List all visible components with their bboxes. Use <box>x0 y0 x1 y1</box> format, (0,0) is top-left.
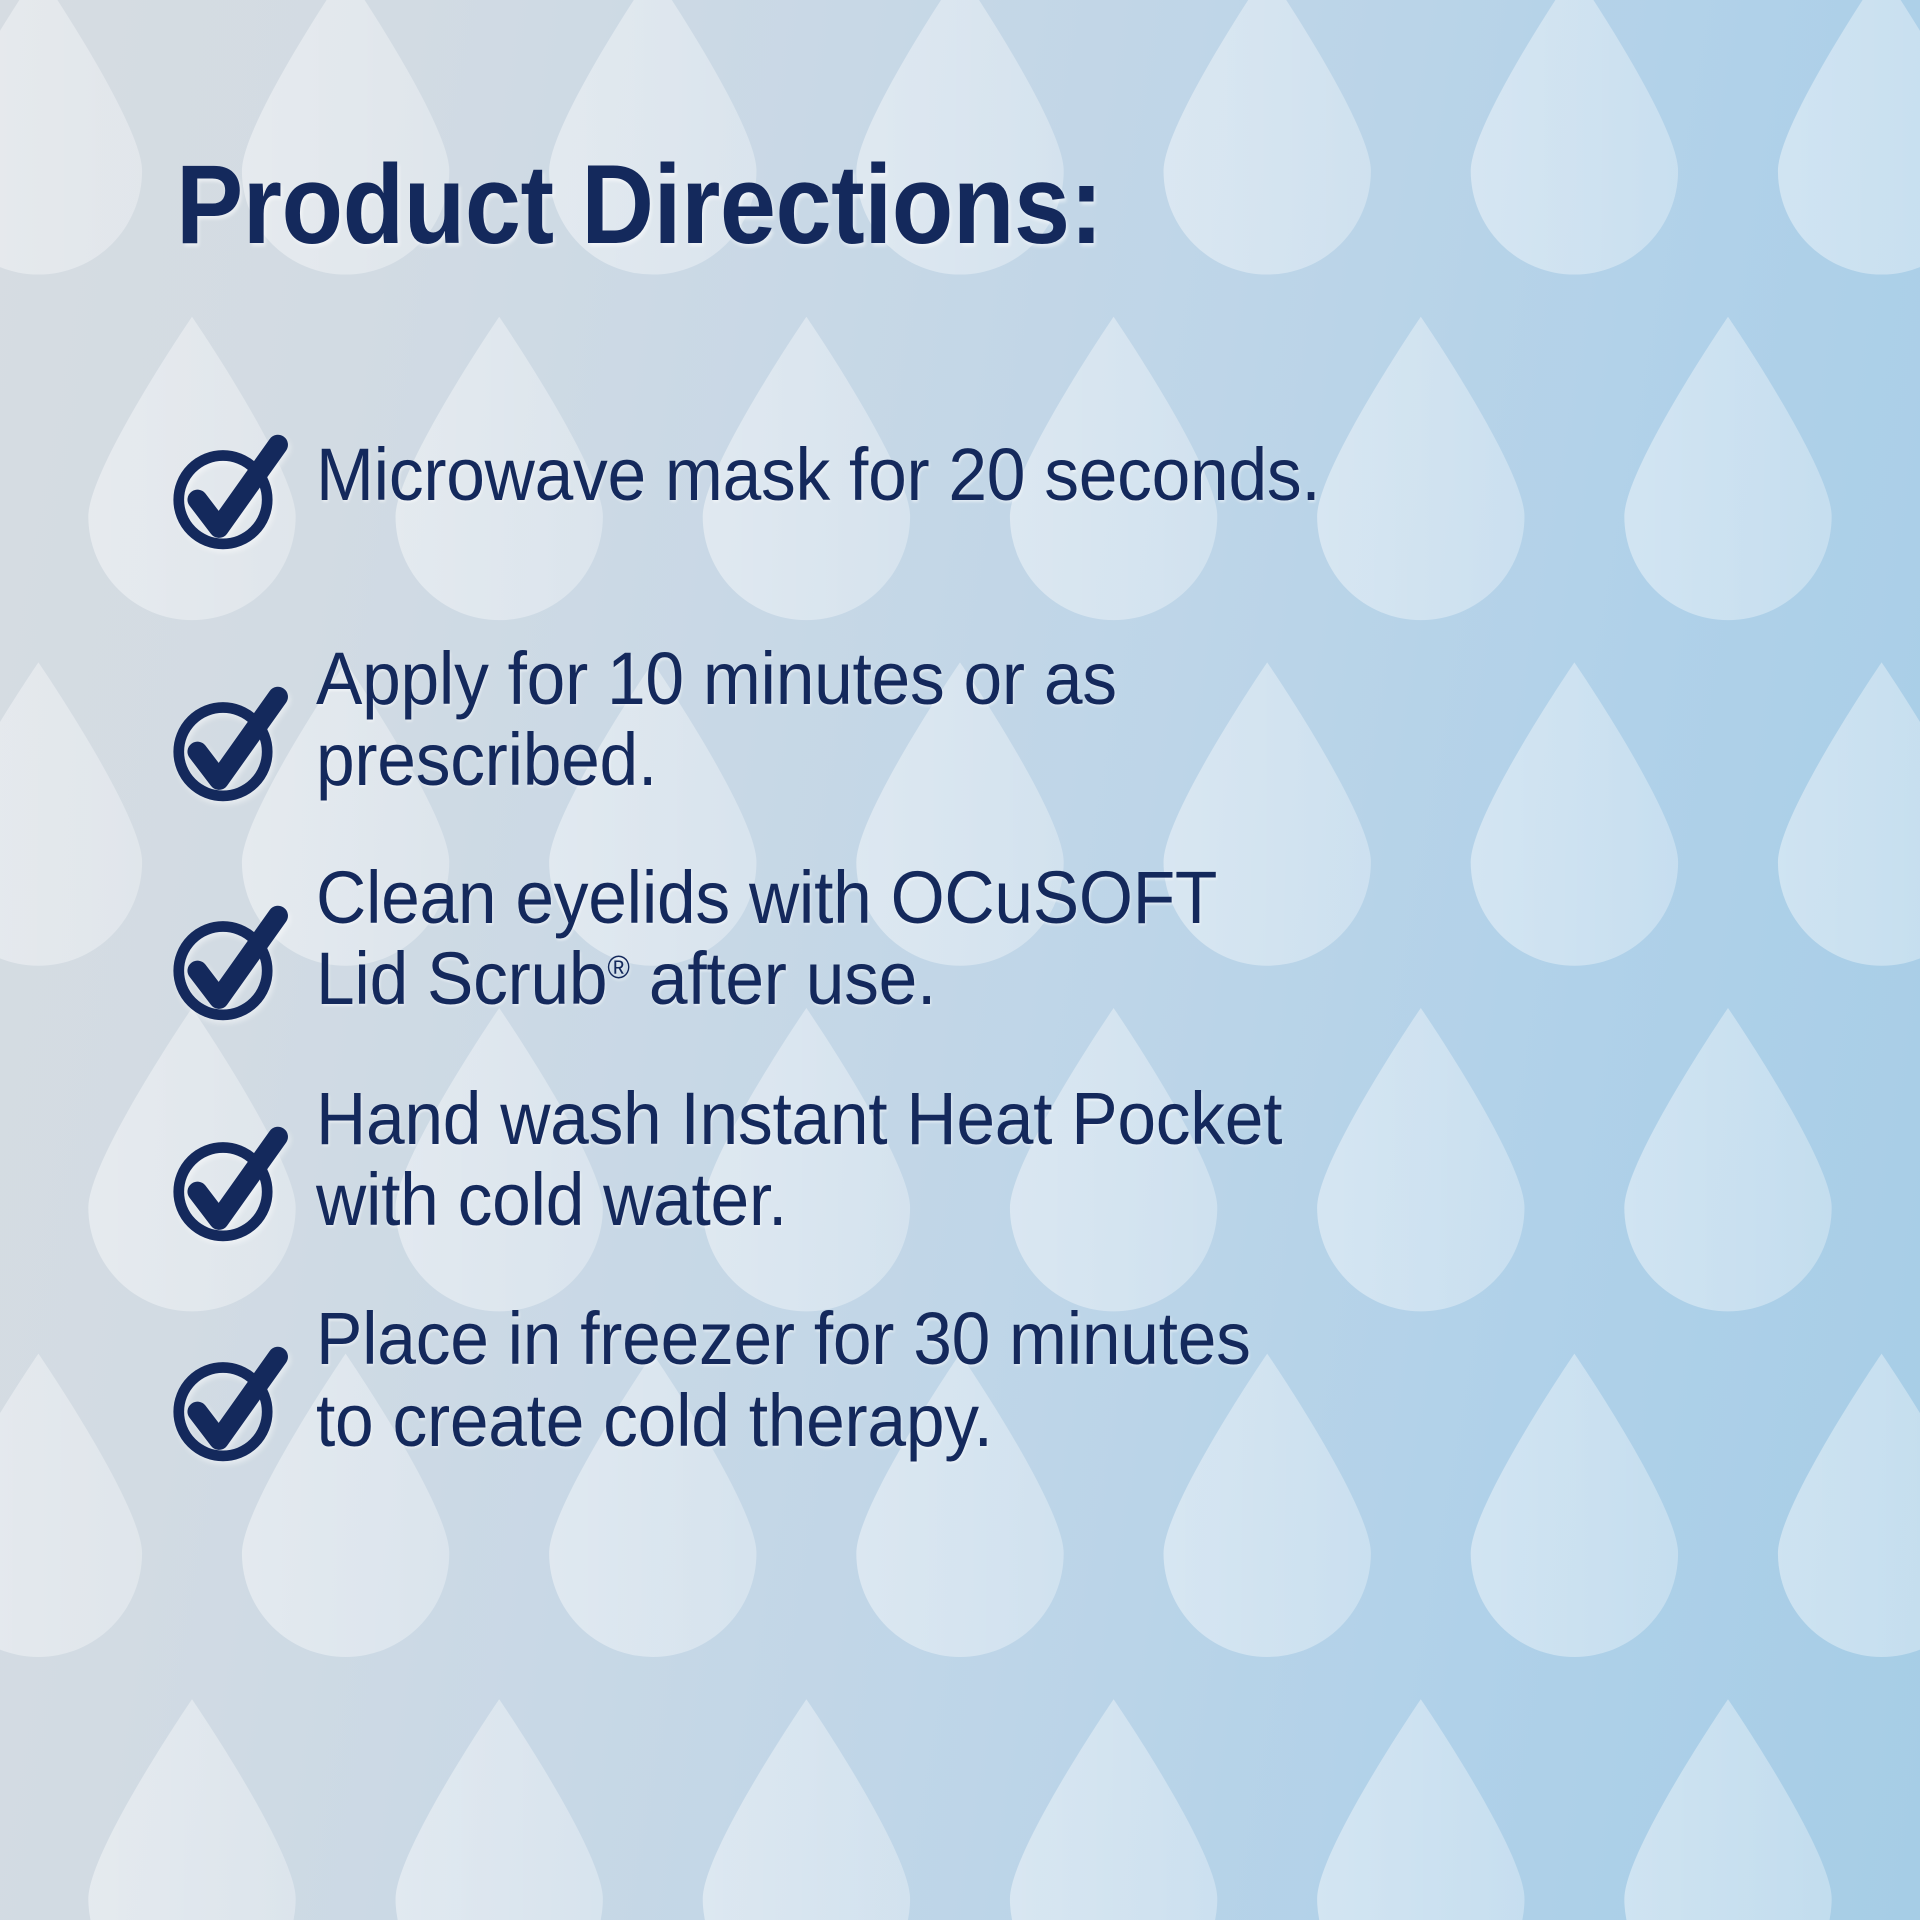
list-item-text: Apply for 10 minutes or as prescribed. <box>316 634 1730 801</box>
text-line: Place in freezer for 30 minutes <box>316 1297 1251 1380</box>
check-circle-icon <box>160 1118 294 1252</box>
list-item: Hand wash Instant Heat Pocket with cold … <box>160 1074 1820 1241</box>
brand-name: Lid Scrub <box>316 937 607 1020</box>
list-item-text: Hand wash Instant Heat Pocket with cold … <box>316 1074 1730 1241</box>
directions-list: Microwave mask for 20 seconds. Apply for… <box>160 430 1820 1461</box>
content-area: Product Directions: Microwave mask for 2… <box>0 0 1920 1920</box>
registered-trademark-icon: ® <box>607 949 630 985</box>
list-item: Apply for 10 minutes or as prescribed. <box>160 634 1820 801</box>
check-circle-icon <box>160 426 294 560</box>
check-circle-icon <box>160 897 294 1031</box>
list-item-text: Clean eyelids with OCuSOFT Lid Scrub® af… <box>316 853 1730 1020</box>
list-item: Microwave mask for 20 seconds. <box>160 430 1820 564</box>
page-title: Product Directions: <box>176 148 1103 262</box>
product-directions-card: Product Directions: Microwave mask for 2… <box>0 0 1920 1920</box>
list-item-text: Microwave mask for 20 seconds. <box>316 430 1730 515</box>
text-line: with cold water. <box>316 1158 787 1241</box>
text-line: after use. <box>630 937 936 1020</box>
list-item: Clean eyelids with OCuSOFT Lid Scrub® af… <box>160 853 1820 1020</box>
text-line: Microwave mask for 20 seconds. <box>316 433 1320 516</box>
text-line: Clean eyelids with OCuSOFT <box>316 856 1217 939</box>
text-line: Apply for 10 minutes or as <box>316 637 1117 720</box>
list-item: Place in freezer for 30 minutes to creat… <box>160 1294 1820 1461</box>
text-line: Hand wash Instant Heat Pocket <box>316 1077 1282 1160</box>
check-circle-icon <box>160 678 294 812</box>
check-circle-icon <box>160 1338 294 1472</box>
text-line: prescribed. <box>316 718 657 801</box>
text-line: to create cold therapy. <box>316 1379 993 1462</box>
list-item-text: Place in freezer for 30 minutes to creat… <box>316 1294 1730 1461</box>
